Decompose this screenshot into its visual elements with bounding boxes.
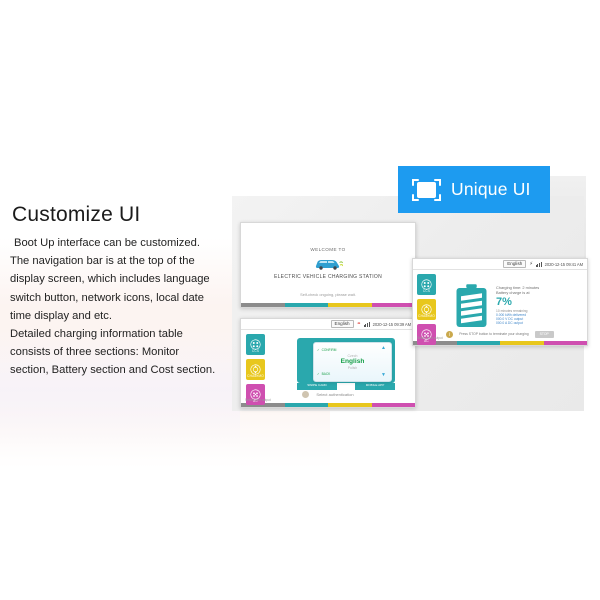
connector-label: CCS: [423, 289, 430, 293]
dialog-confirm-label: CONFIRM: [322, 348, 337, 352]
stop-button[interactable]: STOP: [535, 331, 554, 337]
page-title: Customize UI: [12, 203, 232, 226]
color-bar: [241, 303, 415, 307]
screen-language-select: English ⚭ 2020-12-15 09:39 AM CCS CHAdeM…: [240, 318, 416, 408]
dc-current-output: 000.0 A DC output: [496, 321, 539, 325]
welcome-status-text: Self-check ongoing, please wait.: [241, 292, 415, 297]
language-switch-button[interactable]: English: [503, 260, 526, 268]
charging-info: Charging time: 2 minutes Battery charge …: [496, 285, 539, 325]
signal-bars-icon: [364, 322, 370, 327]
copy-line: switch button, network icons, local date: [10, 289, 232, 307]
ccs-connector-icon: [250, 337, 261, 348]
connector-card-ccs[interactable]: CCS: [417, 274, 436, 295]
copy-line: The navigation bar is at the top of the: [10, 252, 232, 270]
color-bar: [241, 403, 415, 407]
welcome-title: ELECTRIC VEHICLE CHARGING STATION: [274, 274, 382, 280]
electric-car-icon: [313, 256, 343, 270]
auth-label: Select authentication: [316, 392, 353, 397]
welcome-body: WELCOME TO ELECTRIC VEHICLE CHARGING STA…: [241, 223, 415, 303]
copy-line: time display and etc.: [10, 307, 232, 325]
screen-charging-status: English ⚡ 2020-12-15 09:41 AM CCS CHAdeM…: [412, 258, 588, 346]
ccs-connector-icon: [421, 277, 432, 288]
language-switch-button[interactable]: English: [331, 320, 354, 328]
language-dialog: ✓ CONFIRM ✓ BACK Czech English Polish ▲ …: [313, 342, 392, 382]
connector-card-chademo[interactable]: CHAdeMO: [417, 299, 436, 320]
connector-label: CCS: [252, 349, 259, 353]
chademo-connector-icon: [421, 302, 432, 313]
color-bar: [413, 341, 587, 345]
copy-line: consists of three sections: Monitor: [10, 343, 232, 361]
connector-card-ccs[interactable]: CCS: [246, 334, 265, 355]
copy-block: Customize UI Boot Up interface can be cu…: [10, 203, 232, 379]
network-error-icon[interactable]: ⚭: [357, 322, 361, 327]
welcome-top-line: WELCOME TO: [310, 247, 345, 252]
footer-note: Select your output: [245, 398, 271, 402]
datetime-display: 2020-12-15 09:39 AM: [373, 322, 411, 327]
connector-label: CHAdeMO: [418, 314, 435, 318]
rfid-icon: [302, 391, 309, 398]
datetime-display: 2020-12-15 09:41 AM: [545, 262, 583, 267]
kiosk-button-mobile-app-label: MOBILE APP: [355, 382, 395, 389]
battery-percent: 7%: [496, 297, 539, 308]
chevron-up-icon[interactable]: ▲: [381, 346, 386, 351]
plug-connected-icon: ⚡: [529, 262, 533, 267]
copy-line: Boot Up interface can be customized.: [10, 234, 232, 252]
dialog-back-button[interactable]: ✓ BACK: [317, 372, 330, 376]
scan-frame-icon: [411, 177, 442, 203]
language-option-below[interactable]: Polish: [341, 366, 365, 370]
body-copy: Boot Up interface can be customized. The…: [10, 234, 232, 379]
navbar: English ⚭ 2020-12-15 09:39 AM: [241, 319, 415, 330]
copy-line: Detailed charging information table: [10, 325, 232, 343]
chademo-connector-icon: [250, 362, 261, 373]
stop-message: Press STOP button to terminate your char…: [459, 332, 528, 336]
battery-charging-icon: [455, 284, 488, 328]
unique-ui-badge: Unique UI: [398, 166, 550, 213]
battery-charge-label: Battery charge is at: [496, 290, 539, 295]
slide-canvas: Customize UI Boot Up interface can be cu…: [0, 0, 600, 600]
kiosk-button-swipe-card-label: SWIPE CARD: [297, 382, 337, 389]
copy-line: section, Battery section and Cost sectio…: [10, 361, 232, 379]
dialog-back-label: BACK: [322, 372, 331, 376]
copy-line: display screen, which includes language: [10, 270, 232, 288]
language-option-list: Czech English Polish: [341, 354, 365, 371]
connector-card-chademo[interactable]: CHAdeMO: [246, 359, 265, 380]
navbar: English ⚡ 2020-12-15 09:41 AM: [413, 259, 587, 270]
charging-stage: CCS CHAdeMO AC: [413, 270, 587, 341]
signal-bars-icon: [536, 262, 542, 267]
auth-row: Select authentication: [241, 391, 415, 398]
connector-label: CHAdeMO: [247, 374, 264, 378]
language-stage: CCS CHAdeMO AC: [241, 330, 415, 403]
chevron-down-icon[interactable]: ▼: [381, 373, 386, 378]
unique-ui-badge-label: Unique UI: [451, 179, 531, 200]
dialog-confirm-button[interactable]: ✓ CONFIRM: [317, 348, 336, 352]
info-icon: i: [446, 331, 453, 338]
language-option-selected[interactable]: English: [341, 358, 365, 366]
screen-welcome: WELCOME TO ELECTRIC VEHICLE CHARGING STA…: [240, 222, 416, 308]
footer-note: Select your output: [417, 336, 443, 340]
